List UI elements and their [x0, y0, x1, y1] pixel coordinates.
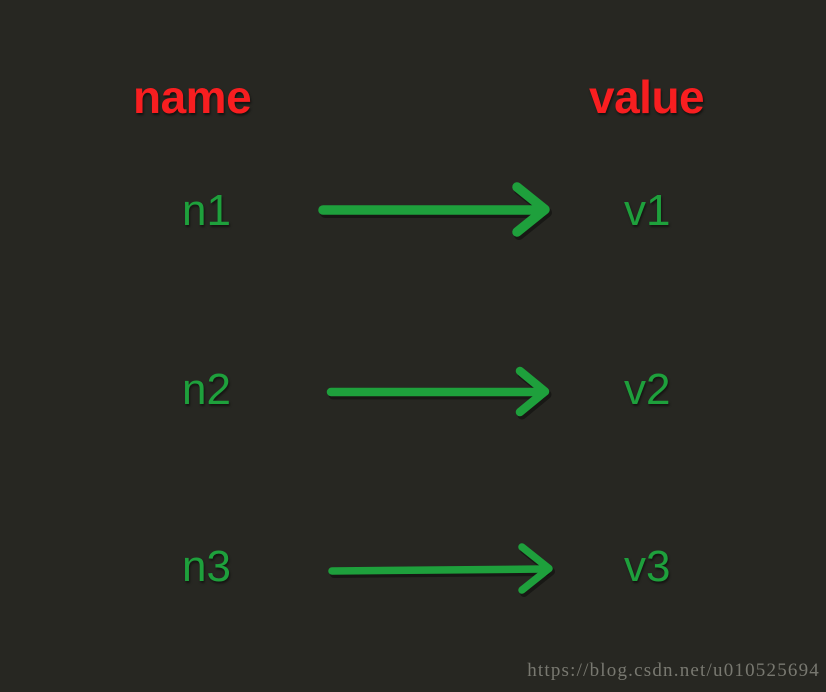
arrow-right-icon-row-2 [318, 356, 564, 418]
column-header-value: value [589, 74, 704, 120]
arrow-right-icon-row-3 [319, 533, 567, 597]
column-header-name: name [133, 74, 251, 120]
value-label-row-2: v2 [624, 368, 670, 412]
name-label-row-1: n1 [182, 189, 231, 233]
name-label-row-2: n2 [182, 368, 231, 412]
value-label-row-3: v3 [624, 545, 670, 589]
value-label-row-1: v1 [624, 189, 670, 233]
arrow-right-icon-row-1 [310, 176, 560, 238]
name-label-row-3: n3 [182, 545, 231, 589]
watermark-text: https://blog.csdn.net/u010525694 [527, 660, 820, 682]
diagram-canvas: name value n1 v1 n2 [0, 0, 826, 692]
